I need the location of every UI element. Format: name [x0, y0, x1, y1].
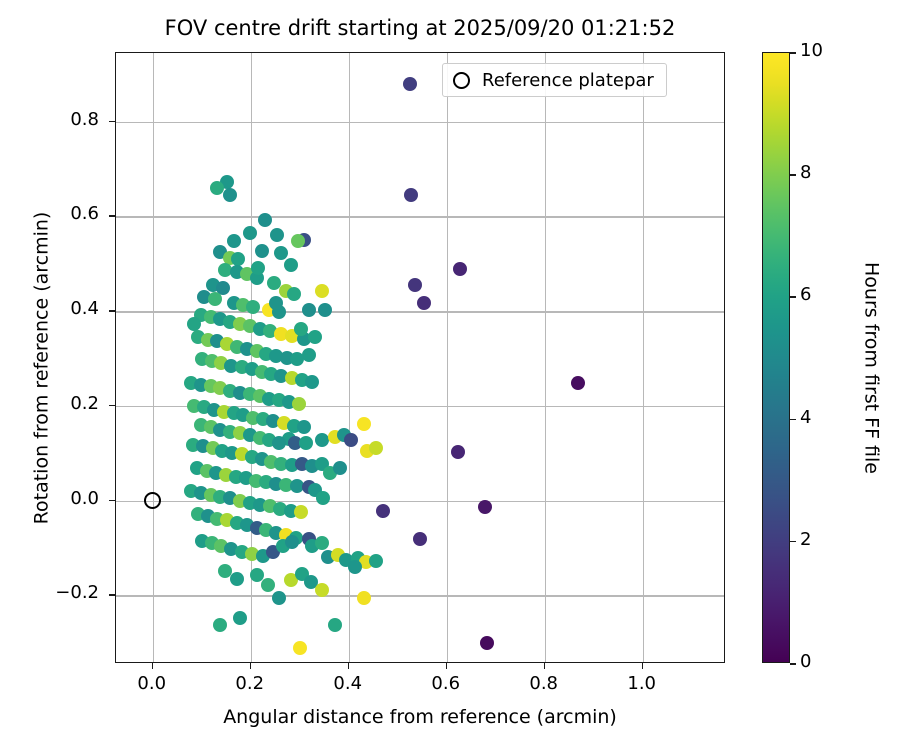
- scatter-point[interactable]: [451, 445, 465, 459]
- page-title: FOV centre drift starting at 2025/09/20 …: [115, 16, 725, 40]
- x-tick-label: 1.0: [607, 673, 677, 694]
- y-tick-mark: [109, 215, 115, 217]
- scatter-point[interactable]: [269, 296, 283, 310]
- scatter-point[interactable]: [272, 436, 286, 450]
- scatter-point[interactable]: [413, 532, 427, 546]
- x-tick-label: 0.2: [215, 673, 285, 694]
- colorbar-tick-label: 4: [800, 407, 811, 428]
- scatter-point[interactable]: [290, 352, 304, 366]
- scatter-point[interactable]: [305, 375, 319, 389]
- scatter-point[interactable]: [315, 536, 329, 550]
- colorbar-tick-mark: [790, 419, 796, 421]
- gridline-horizontal: [116, 216, 724, 217]
- scatter-point[interactable]: [272, 591, 286, 605]
- legend-entry-label: Reference platepar: [482, 70, 654, 91]
- gridline-vertical: [643, 53, 644, 662]
- x-tick-mark: [446, 663, 448, 669]
- scatter-point[interactable]: [284, 258, 298, 272]
- x-tick-label: 0.0: [117, 673, 187, 694]
- scatter-point[interactable]: [308, 330, 322, 344]
- colorbar-tick-mark: [790, 296, 796, 298]
- scatter-point[interactable]: [403, 77, 417, 91]
- scatter-point[interactable]: [243, 226, 257, 240]
- scatter-point[interactable]: [348, 560, 362, 574]
- figure-canvas: FOV centre drift starting at 2025/09/20 …: [0, 0, 900, 750]
- colorbar-tick-label: 8: [800, 162, 811, 183]
- scatter-point[interactable]: [251, 261, 265, 275]
- x-tick-mark: [250, 663, 252, 669]
- colorbar-label: Hours from first FF file: [861, 63, 883, 674]
- scatter-point[interactable]: [357, 417, 371, 431]
- scatter-point[interactable]: [316, 491, 330, 505]
- colorbar-tick-mark: [790, 52, 796, 54]
- colorbar-tick-label: 2: [800, 529, 811, 550]
- scatter-point[interactable]: [408, 278, 422, 292]
- scatter-point[interactable]: [417, 296, 431, 310]
- scatter-point[interactable]: [315, 583, 329, 597]
- scatter-point[interactable]: [274, 246, 288, 260]
- x-tick-mark: [642, 663, 644, 669]
- scatter-point[interactable]: [333, 461, 347, 475]
- y-tick-mark: [109, 594, 115, 596]
- scatter-point[interactable]: [318, 303, 332, 317]
- scatter-point[interactable]: [369, 441, 383, 455]
- scatter-point[interactable]: [223, 188, 237, 202]
- scatter-point[interactable]: [369, 554, 383, 568]
- gridline-vertical: [447, 53, 448, 662]
- colorbar[interactable]: [762, 52, 790, 663]
- scatter-point[interactable]: [293, 641, 307, 655]
- x-tick-label: 0.6: [411, 673, 481, 694]
- scatter-point[interactable]: [230, 572, 244, 586]
- y-tick-mark: [109, 310, 115, 312]
- gridline-horizontal: [116, 595, 724, 596]
- scatter-point[interactable]: [255, 244, 269, 258]
- y-axis-label: Rotation from reference (arcmin): [31, 63, 53, 674]
- scatter-point[interactable]: [299, 436, 313, 450]
- scatter-point[interactable]: [287, 287, 301, 301]
- scatter-point[interactable]: [270, 228, 284, 242]
- scatter-point[interactable]: [213, 618, 227, 632]
- scatter-point[interactable]: [208, 292, 222, 306]
- x-tick-label: 0.4: [313, 673, 383, 694]
- scatter-point[interactable]: [344, 433, 358, 447]
- colorbar-tick-mark: [790, 174, 796, 176]
- scatter-point[interactable]: [261, 578, 275, 592]
- scatter-point[interactable]: [292, 397, 306, 411]
- colorbar-tick-label: 6: [800, 284, 811, 305]
- scatter-point[interactable]: [315, 284, 329, 298]
- gridline-horizontal: [116, 122, 724, 123]
- plot-area[interactable]: [115, 52, 725, 663]
- y-tick-mark: [109, 500, 115, 502]
- colorbar-tick-label: 0: [800, 651, 811, 672]
- legend[interactable]: Reference platepar: [442, 63, 667, 97]
- reference-platepar-marker-icon: [453, 72, 470, 89]
- scatter-point[interactable]: [302, 303, 316, 317]
- x-tick-mark: [348, 663, 350, 669]
- scatter-point[interactable]: [404, 188, 418, 202]
- colorbar-tick-mark: [790, 663, 796, 665]
- scatter-point[interactable]: [233, 611, 247, 625]
- y-tick-mark: [109, 121, 115, 123]
- scatter-point[interactable]: [480, 636, 494, 650]
- scatter-point[interactable]: [478, 500, 492, 514]
- colorbar-tick-mark: [790, 541, 796, 543]
- scatter-point[interactable]: [376, 504, 390, 518]
- scatter-point[interactable]: [258, 213, 272, 227]
- scatter-point[interactable]: [227, 234, 241, 248]
- gridline-vertical: [153, 53, 154, 662]
- gridline-vertical: [545, 53, 546, 662]
- scatter-point[interactable]: [328, 618, 342, 632]
- colorbar-tick-label: 10: [800, 40, 823, 61]
- scatter-point[interactable]: [297, 420, 311, 434]
- reference-platepar-point[interactable]: [144, 492, 161, 509]
- scatter-point[interactable]: [231, 252, 245, 266]
- scatter-point[interactable]: [285, 535, 299, 549]
- x-tick-mark: [152, 663, 154, 669]
- scatter-point[interactable]: [571, 376, 585, 390]
- scatter-point[interactable]: [453, 262, 467, 276]
- x-axis-label: Angular distance from reference (arcmin): [115, 706, 725, 728]
- scatter-point[interactable]: [294, 505, 308, 519]
- scatter-point[interactable]: [315, 433, 329, 447]
- scatter-point[interactable]: [294, 322, 308, 336]
- y-tick-mark: [109, 405, 115, 407]
- x-tick-label: 0.8: [509, 673, 579, 694]
- x-tick-mark: [544, 663, 546, 669]
- scatter-point[interactable]: [357, 591, 371, 605]
